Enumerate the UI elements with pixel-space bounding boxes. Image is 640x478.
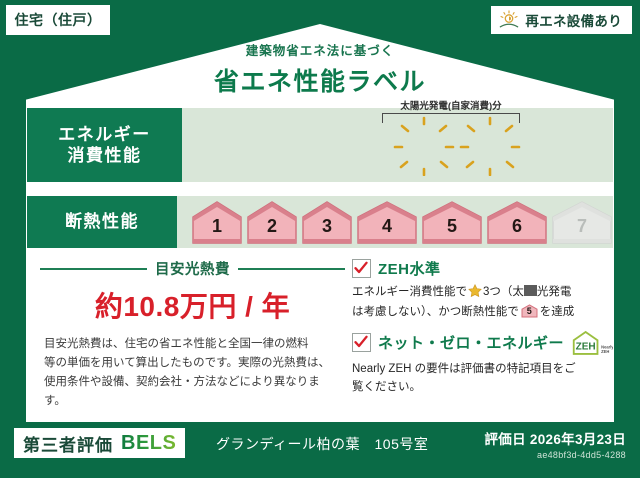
insulation-row-value: 1234567 xyxy=(177,196,613,248)
star-empty-icon xyxy=(524,114,588,176)
evaluation-date: 評価日 2026年3月23日 xyxy=(484,428,626,448)
evaluation-id: ae48bf3d-4dd5-4288 xyxy=(484,450,626,460)
insulation-grade-number: 7 xyxy=(577,216,587,244)
energy-row-value: 太陽光発電(自家消費)分 xyxy=(182,108,613,182)
solar-annotation-label: 太陽光発電(自家消費)分 xyxy=(382,98,520,112)
utility-cost-heading: 目安光熱費 xyxy=(40,258,345,279)
net-zero-energy-header: ネット・ゼロ・エネルギー ZEH Nearly ZEH xyxy=(352,330,614,356)
insulation-grade-filled: 1 xyxy=(191,200,243,244)
label-title: 省エネ性能ラベル xyxy=(0,62,640,98)
insulation-grade-number: 3 xyxy=(322,216,332,244)
nze-body-line2: 覧ください。 xyxy=(352,378,614,396)
utility-cost-heading-label: 目安光熱費 xyxy=(155,258,230,279)
insulation-grade-filled: 2 xyxy=(246,200,298,244)
sun-solar-icon xyxy=(498,10,520,30)
zeh-standard-item: ZEH水準 エネルギー消費性能で3つ（太光発電 は考慮しない）、かつ断熱性能で5… xyxy=(352,258,614,322)
insulation-performance-row: 断熱性能 1234567 xyxy=(27,196,613,248)
net-zero-energy-title: ネット・ゼロ・エネルギー xyxy=(378,332,564,353)
insulation-grade-filled: 4 xyxy=(356,200,418,244)
zeh-standard-title: ZEH水準 xyxy=(378,258,441,279)
label-footer: 第三者評価 BELS グランディール柏の葉 105号室 評価日 2026年3月2… xyxy=(0,422,640,478)
svg-text:ZEH: ZEH xyxy=(601,349,609,354)
label-subtitle: 建築物省エネ法に基づく xyxy=(0,40,640,59)
star-filled-icon xyxy=(194,114,258,176)
energy-performance-label: 住宅（住戸） 再エネ設備あり 建築物省エネ法に基づく 省エネ性能ラベル エネルギ… xyxy=(0,0,640,478)
nze-body-line1: Nearly ZEH の要件は評価書の特記項目をご xyxy=(352,360,614,378)
star-filled-icon xyxy=(392,114,456,176)
property-name: グランディール柏の葉 105号室 xyxy=(216,434,428,454)
utility-cost-value: 約10.8万円 / 年 xyxy=(40,285,345,325)
note-line-1: 目安光熱費は、住宅の省エネ性能と全国一律の燃料 xyxy=(44,335,341,354)
zeh-standard-header: ZEH水準 xyxy=(352,258,614,279)
solar-annotation: 太陽光発電(自家消費)分 xyxy=(382,98,520,123)
renewable-badge-label: 再エネ設備あり xyxy=(525,10,622,30)
bels-mark-label: BELS xyxy=(121,432,176,455)
insulation-grade-scale: 1234567 xyxy=(177,200,613,244)
insulation-grade-number: 1 xyxy=(212,216,222,244)
energy-row-label: エネルギー 消費性能 xyxy=(27,108,182,182)
house-type-badge: 住宅（住戸） xyxy=(6,5,110,35)
house-type-label: 住宅（住戸） xyxy=(15,10,102,30)
energy-performance-row: エネルギー 消費性能 太陽光発電(自家消費)分 xyxy=(27,108,613,182)
insulation-grade-number: 6 xyxy=(512,216,522,244)
insulation-label-line1: 断熱性能 xyxy=(65,211,139,232)
energy-label-line2: 消費性能 xyxy=(68,145,142,166)
insulation-grade-number: 2 xyxy=(267,216,277,244)
star-filled-icon xyxy=(458,114,522,176)
star-filled-icon xyxy=(260,114,324,176)
inline-grade-badge: 5 xyxy=(521,304,538,318)
redacted-character xyxy=(524,285,537,296)
insulation-grade-filled: 3 xyxy=(301,200,353,244)
solar-annotation-bracket xyxy=(382,113,520,123)
inline-star-icon xyxy=(468,284,482,303)
insulation-grade-number: 5 xyxy=(447,216,457,244)
label-header: 建築物省エネ法に基づく 省エネ性能ラベル xyxy=(0,40,640,98)
insulation-row-label: 断熱性能 xyxy=(27,196,177,248)
insulation-grade-filled: 5 xyxy=(421,200,483,244)
inline-grade-number: 5 xyxy=(521,304,538,318)
star-filled-icon xyxy=(326,114,390,176)
note-line-2: 等の単価を用いて算出したものです。実際の光熱費は、 xyxy=(44,354,341,373)
heading-rule-left xyxy=(40,268,147,270)
net-zero-energy-body: Nearly ZEH の要件は評価書の特記項目をご 覧ください。 xyxy=(352,360,614,397)
utility-cost-block: 目安光熱費 約10.8万円 / 年 目安光熱費は、住宅の省エネ性能と全国一律の燃… xyxy=(40,258,345,411)
bels-badge: 第三者評価 BELS xyxy=(14,428,185,458)
renewable-energy-badge: 再エネ設備あり xyxy=(491,6,632,34)
zeh-house-logo-icon: ZEH Nearly ZEH xyxy=(571,330,613,356)
svg-text:ZEH: ZEH xyxy=(576,341,596,352)
note-line-3: 使用条件や設備、契約会社・方法などにより異なります。 xyxy=(44,373,341,411)
zeh-body-e: を達成 xyxy=(540,306,575,318)
zeh-standard-body: エネルギー消費性能で3つ（太光発電 は考慮しない）、かつ断熱性能で5を達成 xyxy=(352,283,614,322)
bels-prefix-label: 第三者評価 xyxy=(23,431,113,456)
insulation-grade-empty: 7 xyxy=(551,200,613,244)
checkbox-checked-icon xyxy=(352,259,371,278)
energy-label-line1: エネルギー xyxy=(58,124,151,145)
insulation-grade-filled: 6 xyxy=(486,200,548,244)
star-rating xyxy=(182,114,588,176)
heading-rule-right xyxy=(238,268,345,270)
zeh-body-b: 3つ（太 xyxy=(483,286,524,298)
zeh-body-c: 光発電 xyxy=(537,286,572,298)
zeh-column: ZEH水準 エネルギー消費性能で3つ（太光発電 は考慮しない）、かつ断熱性能で5… xyxy=(352,258,614,405)
zeh-body-d: は考慮しない）、かつ断熱性能で xyxy=(352,306,519,318)
insulation-grade-number: 4 xyxy=(382,216,392,244)
evaluation-info: 評価日 2026年3月23日 ae48bf3d-4dd5-4288 xyxy=(484,428,626,460)
net-zero-energy-item: ネット・ゼロ・エネルギー ZEH Nearly ZEH Nearly ZEH の… xyxy=(352,330,614,397)
utility-cost-note: 目安光熱費は、住宅の省エネ性能と全国一律の燃料 等の単価を用いて算出したものです… xyxy=(40,335,345,411)
zeh-body-a: エネルギー消費性能で xyxy=(352,286,467,298)
checkbox-checked-icon-2 xyxy=(352,333,371,352)
